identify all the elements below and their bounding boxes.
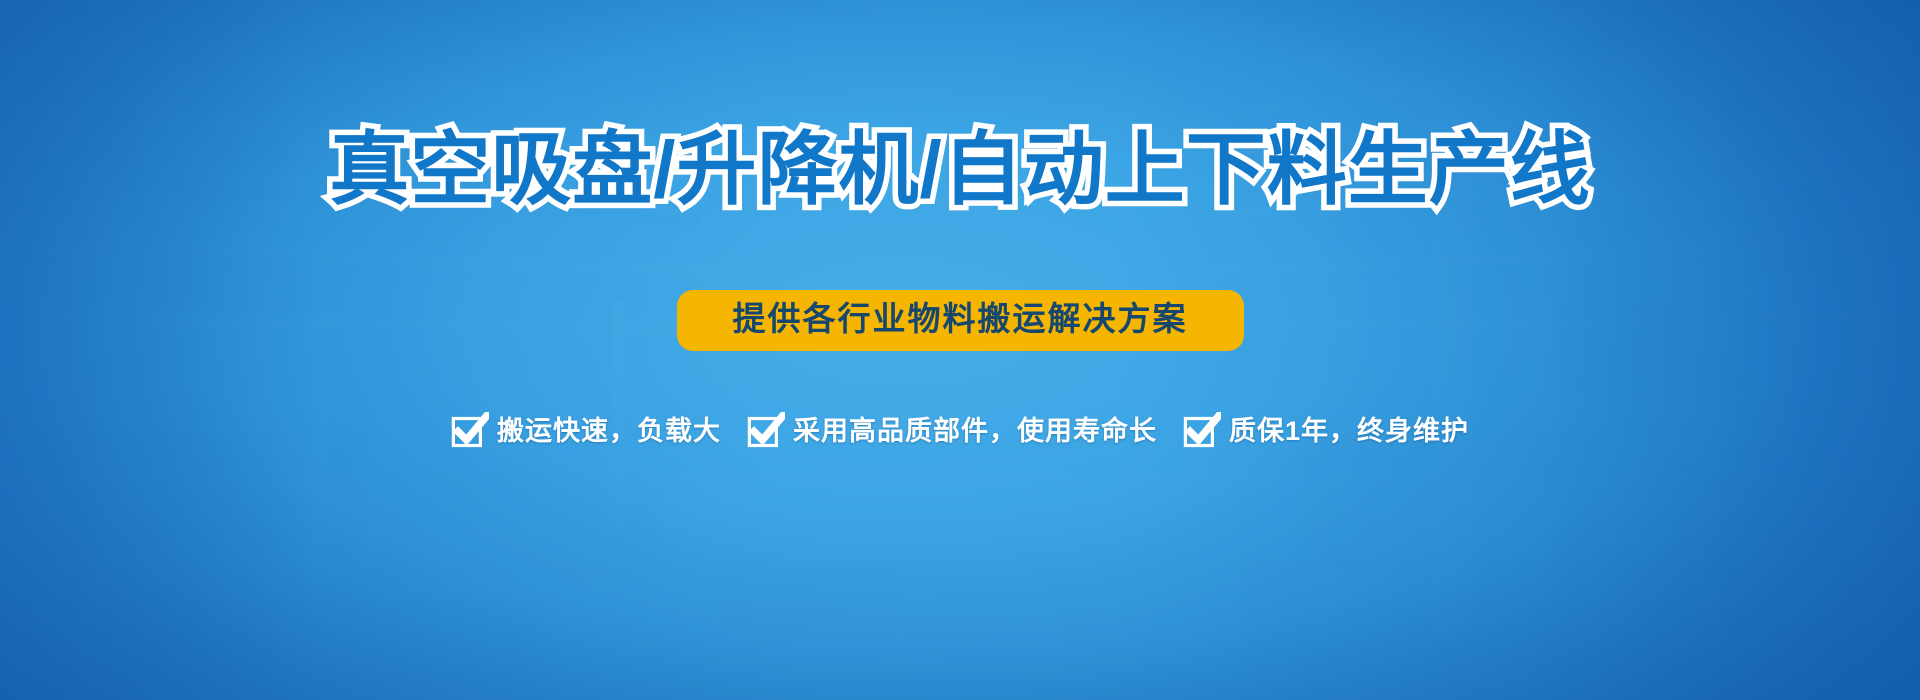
feature-item: 采用高品质部件，使用寿命长: [747, 412, 1157, 450]
feature-label: 质保1年，终身维护: [1229, 418, 1469, 445]
banner-headline: 真空吸盘/升降机/自动上下料生产线: [0, 128, 1920, 211]
banner-badge-row: 提供各行业物料搬运解决方案: [0, 290, 1920, 351]
feature-item: 搬运快速，负载大: [451, 412, 721, 450]
checkbox-check-icon: [747, 412, 785, 450]
checkbox-check-icon: [451, 412, 489, 450]
banner-content: 真空吸盘/升降机/自动上下料生产线 提供各行业物料搬运解决方案 搬运快速，负载大: [0, 0, 1920, 700]
promo-banner: 真空吸盘/升降机/自动上下料生产线 提供各行业物料搬运解决方案 搬运快速，负载大: [0, 0, 1920, 700]
banner-tagline-badge: 提供各行业物料搬运解决方案: [677, 290, 1244, 351]
feature-item: 质保1年，终身维护: [1183, 412, 1469, 450]
feature-label: 采用高品质部件，使用寿命长: [793, 418, 1157, 445]
checkbox-check-icon: [1183, 412, 1221, 450]
feature-label: 搬运快速，负载大: [497, 418, 721, 445]
banner-feature-list: 搬运快速，负载大 采用高品质部件，使用寿命长: [0, 412, 1920, 450]
